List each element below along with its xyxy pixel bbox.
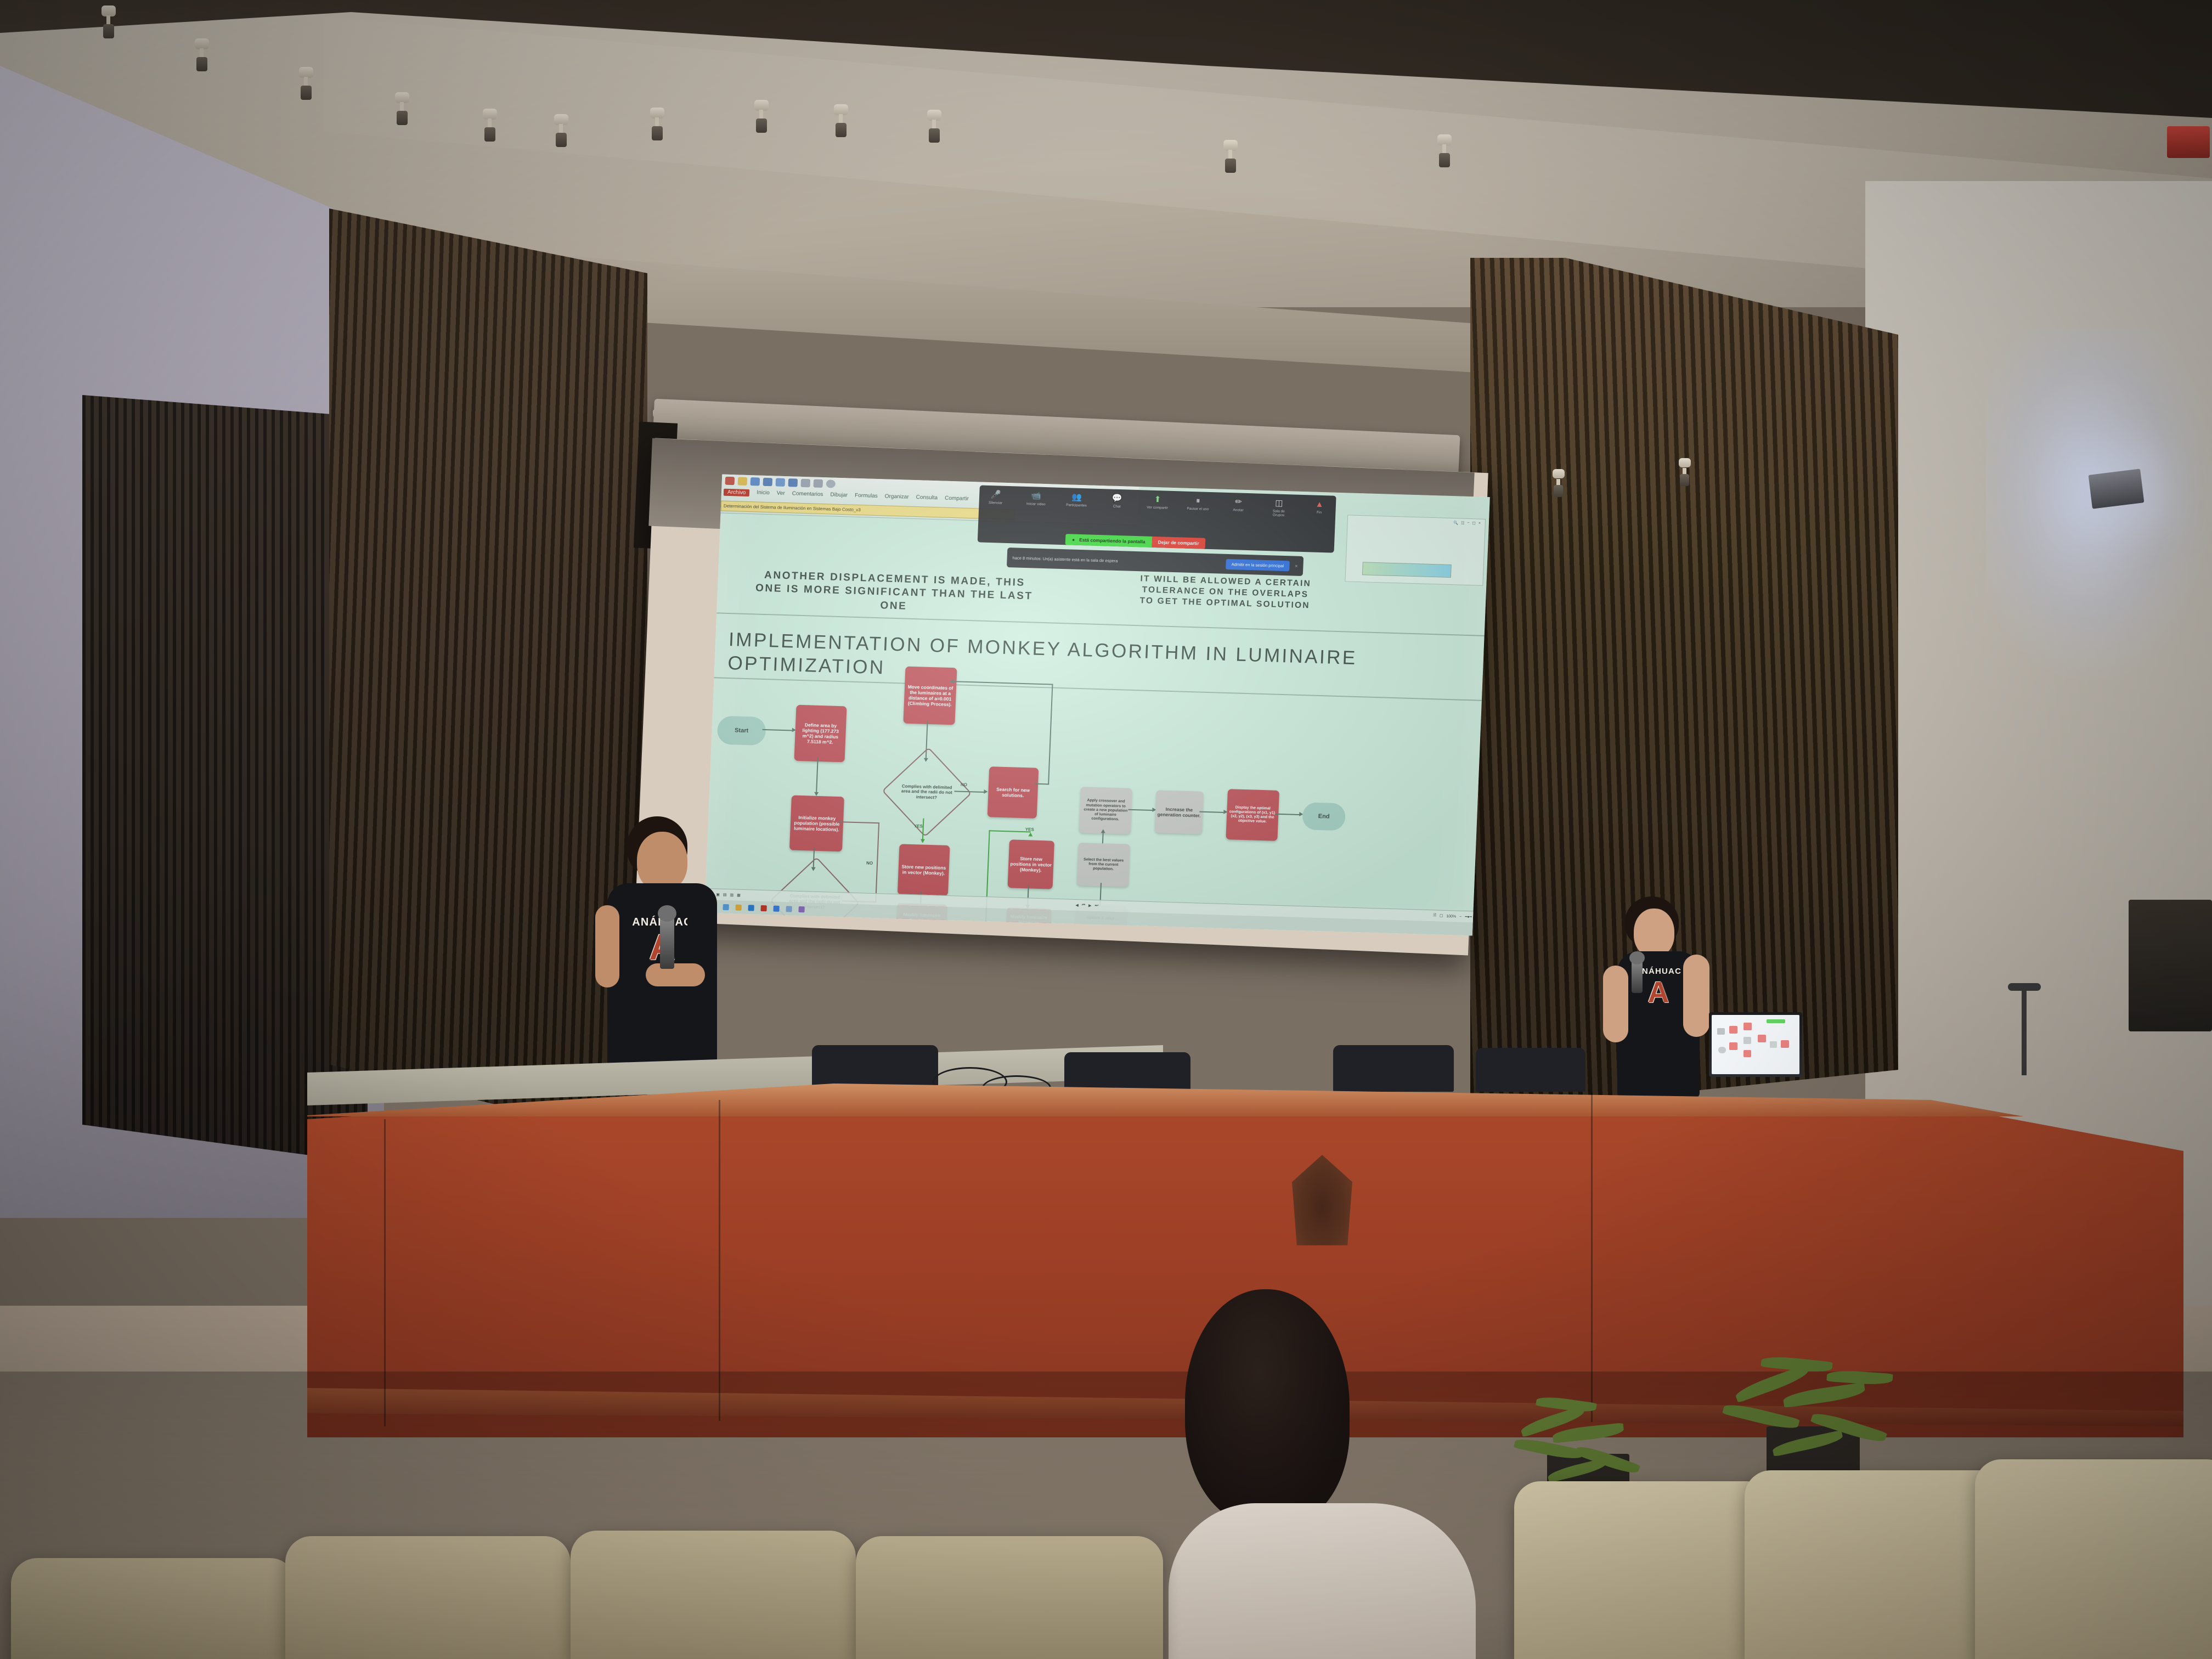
projected-slide: Archivo Inicio Ver Comentarios Dibujar F… [704, 475, 1490, 936]
flow-node-store-1: Store new positions in vector (Monkey). [898, 844, 950, 896]
flow-label-end: End [1318, 813, 1330, 821]
presenter-laptop [1709, 1012, 1802, 1077]
presenter-left-microphone [660, 914, 674, 969]
zoom-label-annotate: Anotar [1233, 508, 1243, 512]
edge-label-no-1: NO [866, 861, 873, 866]
auditorium-scene: Archivo Inicio Ver Comentarios Dibujar F… [0, 0, 2212, 1659]
flow-label-display: Display the optimal configurations of (x… [1228, 805, 1277, 825]
office-icon[interactable] [760, 905, 766, 911]
flow-label-select: Select the best values from the current … [1079, 857, 1128, 872]
seat-row-front-1 [1514, 1481, 1772, 1659]
edge-crossover-increase [1128, 809, 1152, 811]
edge-check1-no-v [875, 822, 879, 902]
zoom-app-icon[interactable] [773, 905, 779, 911]
flow-label-search: Search for new solutions. [990, 786, 1036, 799]
zoom-control-annotate[interactable]: ✏ Anotar [1227, 498, 1250, 512]
flow-node-move: Move coordinates of the luminaires at a … [903, 667, 957, 725]
ceiling-track-light-icon [754, 100, 771, 133]
zoom-control-pause[interactable]: ⏸ Pausar el uso [1187, 496, 1209, 511]
ceiling-track-light-icon [554, 114, 571, 147]
edge-start-define [763, 729, 792, 731]
presenter-right-arm-right [1683, 955, 1709, 1037]
panel-toolbar-icons[interactable]: 🔍 ☷ − ☐ × [1453, 521, 1481, 526]
fit-page-icon[interactable]: ☐ [1440, 914, 1443, 918]
flow-label-init: Initialize monkey population (possible l… [792, 815, 842, 833]
wood-panel-far-left [82, 395, 368, 1163]
zoom-label-video: Iniciar video [1026, 502, 1046, 506]
zoom-label-participants: Participantes [1066, 503, 1087, 507]
edge-increase-display [1199, 811, 1223, 813]
zoom-control-chat[interactable]: 💬 Chat [1106, 494, 1128, 509]
presenter-left-arm-right [687, 900, 716, 971]
flow-label-check2: Complies with delimited area and the rad… [898, 783, 956, 800]
share-status-text: Está compartiendo la pantalla [1079, 537, 1145, 544]
flow-label-define: Define area by lighting (177.273 m^2) an… [797, 722, 845, 746]
arrow-select-crossover [1101, 829, 1105, 833]
zoom-control-mute[interactable]: 🎤 Silenciar [984, 490, 1007, 505]
edge-label-yes-1: YES [914, 823, 923, 828]
chat-icon: 💬 [1112, 494, 1122, 503]
presenter-left-mic-head-icon [658, 905, 676, 922]
edge-display-end [1275, 814, 1299, 815]
tab-consulta[interactable]: Consulta [916, 494, 938, 502]
grid-icon[interactable]: ☷ [1461, 521, 1465, 526]
flow-node-increase: Increase the generation counter. [1155, 790, 1204, 834]
paint-icon[interactable] [788, 478, 798, 487]
flow-node-display: Display the optimal configurations of (x… [1226, 789, 1279, 841]
arrow-check1-no [838, 820, 842, 824]
flow-node-end: End [1302, 802, 1346, 831]
presenter-right-arm-left [1603, 966, 1628, 1042]
tab-comentarios[interactable]: Comentarios [792, 490, 823, 499]
tab-compartir[interactable]: Compartir [945, 495, 969, 503]
edge-check1-no-back [841, 821, 879, 823]
table-microphone-stand [2022, 988, 2027, 1075]
formula-bar[interactable]: Determinación del Sistema de Iluminación… [721, 501, 1015, 520]
zoom-out-icon[interactable]: − [1459, 915, 1462, 918]
preview-icon[interactable] [776, 478, 786, 486]
breakout-icon: ◫ [1275, 499, 1283, 507]
redo-icon[interactable] [813, 479, 823, 488]
flow-label-store-1: Store new positions in vector (Monkey). [900, 864, 947, 876]
flow-node-start: Start [717, 715, 766, 746]
audience-hair [1185, 1289, 1350, 1525]
tab-ver[interactable]: Ver [776, 490, 785, 498]
flow-node-define: Define area by lighting (177.273 m^2) an… [794, 705, 847, 763]
seat-row-front-3 [1975, 1459, 2212, 1659]
app-icon [725, 477, 735, 485]
quick-access-toolbar[interactable] [725, 477, 836, 488]
presenter-left-head [637, 832, 687, 891]
chair-3 [1333, 1045, 1454, 1092]
stage-speaker [2129, 900, 2212, 1031]
zoom-control-leave[interactable]: ▲ Fin [1308, 500, 1331, 515]
ceiling-track-light-icon [1553, 469, 1567, 498]
share-status-badge: ● Está compartiendo la pantalla [1065, 534, 1152, 548]
seat-row-left-3 [571, 1531, 856, 1659]
page-first-icon[interactable]: ⏮ [1082, 903, 1086, 907]
slide-side-panel: 🔍 ☷ − ☐ × [1345, 515, 1486, 585]
folder-icon[interactable] [738, 477, 748, 485]
seat-row-left-4 [856, 1536, 1163, 1659]
ceiling-track-light-icon [650, 108, 667, 140]
stop-share-button[interactable]: Dejar de compartir [1152, 536, 1205, 549]
ceiling-track-light-icon [483, 109, 499, 142]
ribbon-tab-strip[interactable]: Archivo Inicio Ver Comentarios Dibujar F… [724, 489, 969, 503]
flow-node-select: Select the best values from the current … [1077, 843, 1130, 887]
tab-organizar[interactable]: Organizar [884, 493, 909, 501]
status-right-icons[interactable]: 🗎 ☐ 100% − ━●━ + [1433, 913, 1477, 920]
page-prev-icon[interactable]: ◀ [1075, 903, 1079, 907]
annotate-icon: ✏ [1235, 498, 1242, 506]
arrow-check2-yes [921, 839, 925, 843]
flow-node-init: Initialize monkey population (possible l… [789, 795, 844, 852]
ceiling-track-light-icon [834, 104, 850, 137]
edge-search-up [1048, 684, 1053, 785]
zoom-label-share: Ver compartir [1147, 506, 1168, 510]
admit-participant-button[interactable]: Admitir en la sesión principal [1226, 558, 1289, 571]
table-microphone-head-icon [2008, 983, 2041, 991]
share-screen-icon: ⬆ [1154, 495, 1161, 504]
window-icon[interactable]: ☐ [1472, 521, 1476, 526]
ceiling-track-light-icon [1679, 458, 1693, 487]
seat-row-front-2 [1745, 1470, 2008, 1659]
ceiling-track-light-icon [927, 110, 944, 143]
tab-inicio[interactable]: Inicio [757, 489, 770, 497]
arrow-search-back [950, 679, 953, 684]
zoom-control-participants[interactable]: 👥 Participantes [1065, 493, 1088, 507]
zoom-in-icon[interactable]: 🔍 [1453, 521, 1458, 525]
panel-preview-swatch [1362, 562, 1452, 578]
flow-node-check2: Complies with delimited area and the rad… [882, 747, 972, 837]
flow-node-crossover: Apply crossover and mutation operators t… [1079, 787, 1132, 834]
arrow-yes-branch [1028, 832, 1032, 836]
pause-icon: ⏸ [1196, 496, 1200, 505]
share-dot-icon: ● [1072, 537, 1075, 542]
ceiling-track-light-icon [395, 92, 411, 125]
video-icon: 📹 [1031, 492, 1041, 500]
presenter-right: ANÁHUAC A [1591, 894, 1723, 1114]
arrow-check2-no [984, 789, 988, 794]
help-icon[interactable] [826, 479, 836, 488]
audience-shoulders [1169, 1503, 1476, 1659]
page-last-icon[interactable]: ⏭ [1094, 904, 1098, 908]
page-icon[interactable]: 🗎 [1433, 913, 1436, 919]
zoom-label-leave: Fin [1317, 511, 1322, 515]
seat-row-left-1 [11, 1558, 296, 1659]
microphone-icon: 🎤 [990, 490, 1001, 499]
flow-label-increase: Increase the generation counter. [1157, 806, 1201, 818]
zoom-label-breakout: Sala de Grupos [1267, 509, 1289, 517]
save-icon[interactable] [751, 477, 760, 486]
ceiling-track-light-icon [299, 67, 315, 100]
exit-sign-light [2167, 126, 2210, 158]
tab-formulas[interactable]: Formulas [855, 493, 878, 500]
tab-dibujar[interactable]: Dibujar [830, 492, 848, 499]
presenter-right-head [1634, 909, 1674, 957]
edge-define-init [816, 758, 818, 792]
zoom-label-chat: Chat [1113, 505, 1121, 509]
chair-4 [1476, 1048, 1585, 1092]
fern-plant-2 [1723, 1355, 1904, 1470]
flow-node-store-2: Store new positions in vector (Monkey). [1007, 839, 1054, 889]
wall-sconce-icon [2089, 469, 2145, 509]
caption-left: ANOTHER DISPLACEMENT IS MADE, THIS ONE I… [751, 568, 1038, 617]
zoom-percent-icon[interactable]: 100% [1446, 915, 1456, 919]
seat-row-left-2 [285, 1536, 571, 1659]
zoom-slider[interactable]: ━●━ [1465, 915, 1472, 919]
caption-right: IT WILL BE ALLOWED A CERTAIN TOLERANCE O… [1134, 573, 1316, 612]
waiting-room-notification: hace 8 minutos: Un(a) asistente está en … [1007, 548, 1304, 576]
zoom-control-share[interactable]: ⬆ Ver compartir [1146, 495, 1169, 510]
flow-label-start: Start [735, 727, 749, 735]
ceiling-track-light-icon [101, 5, 118, 38]
presenter-right-mic-head-icon [1629, 951, 1645, 964]
zoom-label-mute: Silenciar [989, 501, 1002, 505]
close-window-icon[interactable]: × [1479, 521, 1481, 526]
undo-icon[interactable] [801, 479, 811, 487]
leave-icon: ▲ [1315, 500, 1323, 509]
laptop-screen [1712, 1015, 1799, 1074]
presenter-left-arm-left [595, 905, 619, 988]
audience-member [1169, 1289, 1476, 1659]
ceiling-track-light-icon [1437, 134, 1454, 167]
presenter-left-forearm [646, 963, 705, 986]
tab-archivo[interactable]: Archivo [724, 489, 750, 496]
ceiling-track-light-icon [195, 38, 211, 71]
participants-icon: 👥 [1071, 493, 1082, 501]
print-icon[interactable] [763, 478, 773, 486]
status-center-icons[interactable]: ◀ ⏮ ▶ ⏭ [1075, 903, 1098, 908]
flow-node-search: Search for new solutions. [988, 766, 1039, 819]
laptop-flowchart-preview [1715, 1018, 1796, 1071]
flow-label-store-2: Store new positions in vector (Monkey). [1010, 855, 1052, 873]
ceiling-track-light-icon [1223, 140, 1240, 173]
flow-label-crossover: Apply crossover and mutation operators t… [1081, 799, 1130, 823]
page-next-icon[interactable]: ▶ [1088, 904, 1092, 908]
close-icon[interactable]: × [1295, 563, 1298, 569]
edge-label-no-2: NO [961, 782, 967, 787]
zoom-control-breakout[interactable]: ◫ Sala de Grupos [1267, 499, 1290, 517]
zoom-label-pause: Pausar el uso [1187, 507, 1209, 511]
notes-icon[interactable] [798, 906, 804, 912]
notification-text: hace 8 minutos: Un(a) asistente está en … [1012, 555, 1220, 566]
edge-yes-branch-top [989, 830, 1031, 832]
minus-icon[interactable]: − [1467, 521, 1469, 526]
zoom-control-video[interactable]: 📹 Iniciar video [1025, 492, 1047, 506]
flow-label-move: Move coordinates of the luminaires at a … [906, 684, 955, 708]
mail-icon[interactable] [786, 906, 792, 912]
edge-label-yes-2: YES [1025, 827, 1034, 832]
